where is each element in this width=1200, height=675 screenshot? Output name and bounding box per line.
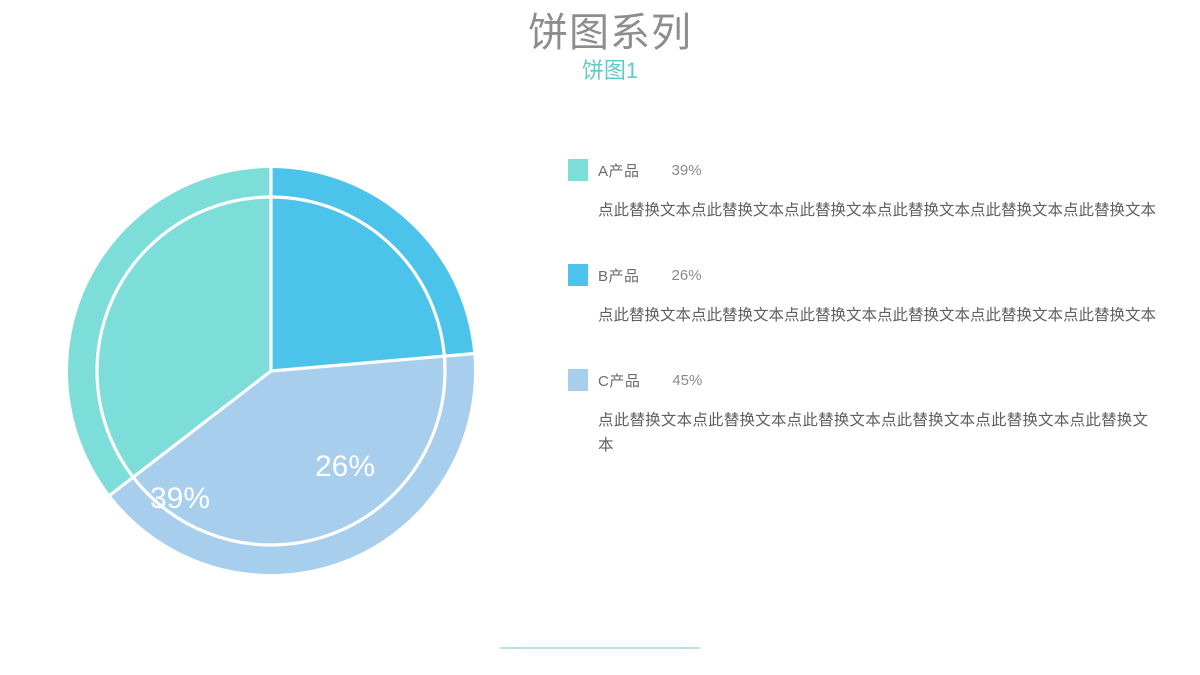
legend: A产品 39% 点此替换文本点此替换文本点此替换文本点此替换文本点此替换文本点此…: [568, 158, 1178, 498]
legend-percent-b: 26%: [672, 267, 702, 284]
legend-item-c-head: C产品 45%: [568, 368, 1178, 392]
chart-header: 饼图系列 饼图1: [400, 8, 820, 86]
legend-swatch-b-icon: [568, 264, 588, 286]
pie-chart: 26% 45% 39%: [68, 168, 474, 574]
legend-item-c[interactable]: C产品 45% 点此替换文本点此替换文本点此替换文本点此替换文本点此替换文本点此…: [568, 368, 1178, 458]
legend-swatch-a-icon: [568, 159, 588, 181]
pie-chart-svg: 26% 45% 39%: [68, 168, 474, 574]
page-subtitle: 饼图1: [400, 56, 820, 86]
legend-item-b-head: B产品 26%: [568, 263, 1178, 287]
legend-description-c: 点此替换文本点此替换文本点此替换文本点此替换文本点此替换文本点此替换文本: [598, 408, 1148, 458]
legend-percent-c: 45%: [672, 372, 702, 389]
legend-description-a: 点此替换文本点此替换文本点此替换文本点此替换文本点此替换文本点此替换文本: [598, 198, 1158, 223]
slide-canvas: 饼图系列 饼图1 26% 45% 39% A产品 39%: [0, 0, 1200, 675]
legend-item-b[interactable]: B产品 26% 点此替换文本点此替换文本点此替换文本点此替换文本点此替换文本点此…: [568, 263, 1178, 328]
pie-label-b: 26%: [315, 450, 375, 483]
page-title: 饼图系列: [400, 8, 820, 58]
legend-item-a[interactable]: A产品 39% 点此替换文本点此替换文本点此替换文本点此替换文本点此替换文本点此…: [568, 158, 1178, 223]
legend-swatch-c-icon: [568, 369, 588, 391]
legend-label-a: A产品: [598, 160, 640, 181]
pie-label-a: 39%: [150, 482, 210, 515]
legend-label-c: C产品: [598, 370, 640, 391]
legend-percent-a: 39%: [672, 162, 702, 179]
legend-label-b: B产品: [598, 265, 640, 286]
legend-item-a-head: A产品 39%: [568, 158, 1178, 182]
legend-description-b: 点此替换文本点此替换文本点此替换文本点此替换文本点此替换文本点此替换文本: [598, 303, 1176, 328]
footer-divider: [500, 647, 700, 649]
